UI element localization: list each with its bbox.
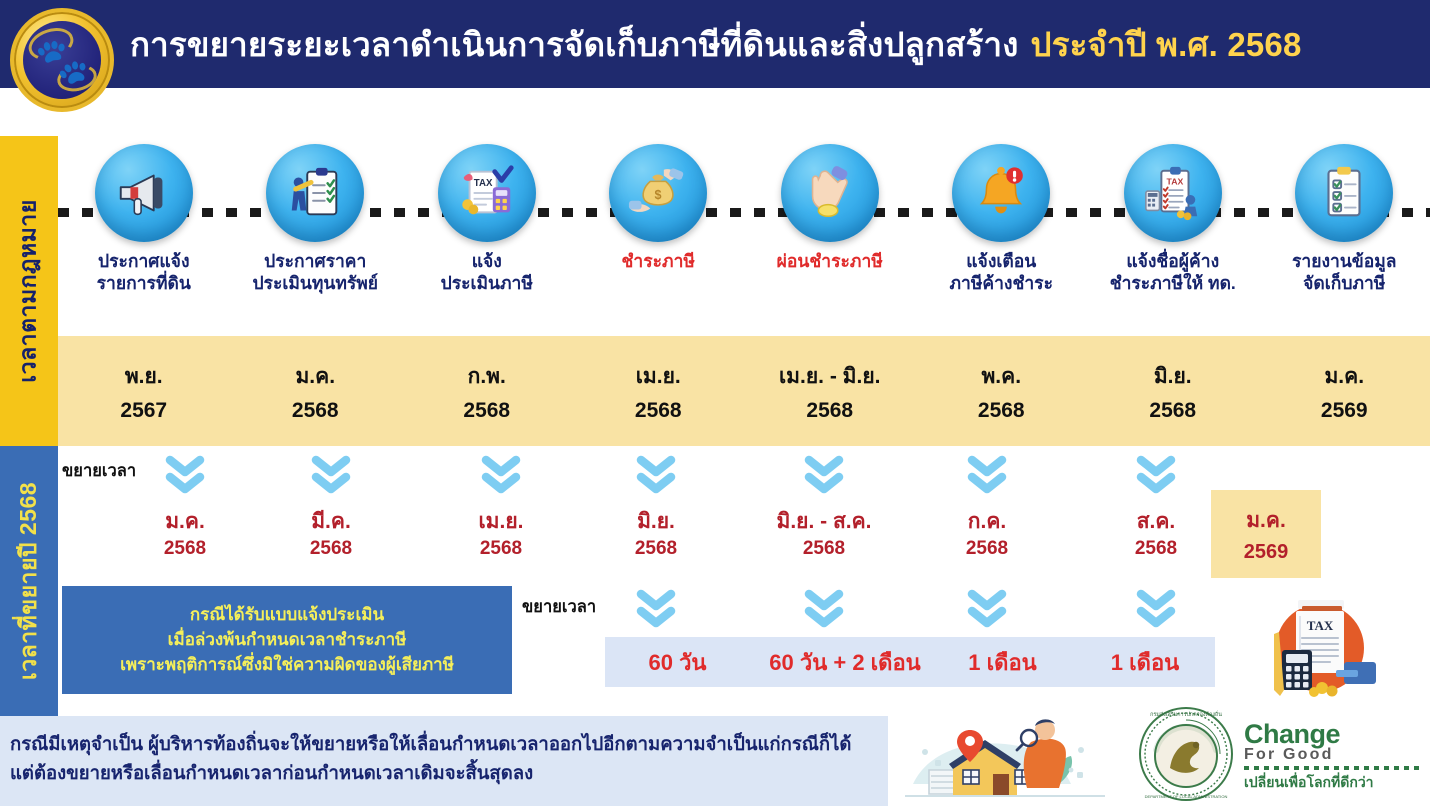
timeline-step-3-label: แจ้ง ประเมินภาษี [441,250,533,295]
alert-bell-icon [952,144,1050,242]
clipboard-person-icon [266,144,364,242]
assessment-note-line-3: เพราะพฤติการณ์ซึ่งมิใช่ความผิดของผู้เสีย… [120,654,454,676]
duration-item-4: 1 เดือน [1075,637,1215,687]
change-for-good-thai: เปลี่ยนเพื่อโลกที่ดีกว่า [1244,772,1420,794]
timeline-step-4[interactable]: $ ชำระภาษี [573,136,745,336]
megaphone-icon [95,144,193,242]
sidebar-extended-time: เวลาที่ขยายปี 2568 [0,446,58,716]
timeline-step-2-label: ประกาศราคา ประเมินทุนทรัพย์ [252,250,378,295]
legal-date-cell-4: เม.ย. 2568 [573,336,745,446]
double-chevron-down-icon-8 [634,586,678,632]
hand-coin-icon [781,144,879,242]
extended-date-month-5: มิ.ย. - ส.ค. [749,508,899,536]
double-chevron-down-icon-10 [965,586,1009,632]
svg-text:TAX: TAX [1307,618,1334,633]
sidebar-legal-label: เวลาตามกฎหมาย [11,199,47,382]
extended-date-cell-6: ก.ค. 2568 [912,508,1062,562]
double-chevron-down-icon-11 [1134,586,1178,632]
duration-item-1: 60 วัน [605,637,750,687]
legal-date-month-1: พ.ย. [125,360,163,393]
duration-item-2: 60 วัน + 2 เดือน [750,637,940,687]
legal-date-year-2: 2568 [292,399,339,423]
double-chevron-down-icon-5 [802,452,846,498]
change-for-good-divider [1244,766,1420,770]
timeline-step-6-label: แจ้งเตือน ภาษีค้างชำระ [950,250,1053,295]
page-title-year: ประจำปี พ.ศ. 2568 [1031,18,1302,71]
extended-highlight-month: ม.ค. [1246,504,1286,537]
timeline-step-6[interactable]: แจ้งเตือน ภาษีค้างชำระ [916,136,1088,336]
timeline-step-5[interactable]: ผ่อนชำระภาษี [744,136,916,336]
legal-dates-band: พ.ย. 2567 ม.ค. 2568 ก.พ. 2568 เม.ย. 2568… [58,336,1430,446]
thai-garuda-lion-seal-icon: 🐾 [10,8,114,112]
extended-date-highlight-cell: ม.ค. 2569 [1211,490,1321,578]
timeline-step-2[interactable]: ประกาศราคา ประเมินทุนทรัพย์ [230,136,402,336]
double-chevron-down-icon-4 [634,452,678,498]
footer-note: กรณีมีเหตุจำเป็น ผู้บริหารท้องถิ่นจะให้ข… [0,716,888,806]
legal-date-cell-7: มิ.ย. 2568 [1087,336,1259,446]
svg-text:TAX: TAX [1166,176,1183,186]
footer-note-line-1: กรณีมีเหตุจำเป็น ผู้บริหารท้องถิ่นจะให้ข… [10,730,876,759]
extended-date-year-6: 2568 [912,536,1062,562]
department-of-local-administration-seal-icon: กรมส่งเสริมการปกครองท้องถิ่น DEPARTMENT … [1138,706,1234,802]
legal-date-month-4: เม.ย. [636,360,681,393]
assessment-note-box: กรณีได้รับแบบแจ้งประเมิน เมื่อล่วงพ้นกำห… [62,586,512,694]
legal-date-year-8: 2569 [1321,399,1368,423]
svg-text:$: $ [655,188,662,202]
legal-date-year-3: 2568 [463,399,510,423]
page-title-main: การขยายระยะเวลาดำเนินการจัดเก็บภาษีที่ดิ… [130,18,1019,71]
legal-date-month-7: มิ.ย. [1154,360,1192,393]
checklist-clipboard-icon [1295,144,1393,242]
extend-label-top: ขยายเวลา [62,458,136,484]
legal-date-year-4: 2568 [635,399,682,423]
legal-date-cell-1: พ.ย. 2567 [58,336,230,446]
money-bag-hand-icon: $ [609,144,707,242]
assessment-note-line-1: กรณีได้รับแบบแจ้งประเมิน [190,604,384,626]
tax-clipboard-calculator-icon: TAX [1124,144,1222,242]
legal-date-year-1: 2567 [120,399,167,423]
assessment-note-line-2: เมื่อล่วงพ้นกำหนดเวลาชำระภาษี [168,629,407,651]
legal-date-year-6: 2568 [978,399,1025,423]
duration-band: 60 วัน 60 วัน + 2 เดือน 1 เดือน 1 เดือน [605,637,1215,687]
legal-date-month-3: ก.พ. [468,360,506,393]
sidebar-extended-label: เวลาที่ขยายปี 2568 [11,482,47,680]
header-bar: การขยายระยะเวลาดำเนินการจัดเก็บภาษีที่ดิ… [0,0,1430,88]
legal-date-cell-5: เม.ย. - มิ.ย. 2568 [744,336,916,446]
double-chevron-down-icon-7 [1134,452,1178,498]
extended-date-year-2: 2568 [256,536,406,562]
house-inspection-illustration-icon [905,712,1105,804]
tax-document-icon: TAX [438,144,536,242]
footer-note-line-2: แต่ต้องขยายหรือเลื่อนกำหนดเวลาก่อนกำหนดเ… [10,759,876,788]
legal-date-cell-3: ก.พ. 2568 [401,336,573,446]
legal-date-month-6: พ.ค. [981,360,1021,393]
legal-date-year-7: 2568 [1149,399,1196,423]
double-chevron-down-icon-3 [479,452,523,498]
change-for-good-main: Change [1244,722,1420,747]
extended-date-year-4: 2568 [581,536,731,562]
tax-form-calculator-illustration-icon: TAX [1258,592,1382,698]
extended-date-cell-4: มิ.ย. 2568 [581,508,731,562]
extend-label-bottom: ขยายเวลา [522,594,596,620]
sidebar-legal-time: เวลาตามกฎหมาย [0,136,58,446]
extended-date-year-5: 2568 [749,536,899,562]
timeline-step-3[interactable]: TAX แจ้ง ประเมินภาษี [401,136,573,336]
legal-date-year-5: 2568 [806,399,853,423]
extended-date-month-2: มี.ค. [256,508,406,536]
svg-text:กรมส่งเสริมการปกครองท้องถิ่น: กรมส่งเสริมการปกครองท้องถิ่น [1150,710,1222,718]
extended-date-cell-7: ส.ค. 2568 [1081,508,1231,562]
legal-date-month-5: เม.ย. - มิ.ย. [779,360,880,393]
page-title: การขยายระยะเวลาดำเนินการจัดเก็บภาษีที่ดิ… [130,0,1420,88]
extended-date-cell-2: มี.ค. 2568 [256,508,406,562]
extended-date-month-4: มิ.ย. [581,508,731,536]
legal-date-month-8: ม.ค. [1324,360,1364,393]
change-for-good-sub: For Good [1244,747,1420,763]
svg-text:TAX: TAX [474,178,493,189]
legal-date-cell-2: ม.ค. 2568 [230,336,402,446]
extended-date-year-3: 2568 [426,536,576,562]
duration-item-3: 1 เดือน [940,637,1065,687]
double-chevron-down-icon-6 [965,452,1009,498]
timeline-step-7[interactable]: TAX แจ้งชื่อผู้ค้าง ชำระภาษีให้ ทด. [1087,136,1259,336]
timeline-step-1[interactable]: ประกาศแจ้ง รายการที่ดิน [58,136,230,336]
timeline-step-4-label: ชำระภาษี [622,250,695,272]
timeline-step-8[interactable]: รายงานข้อมูล จัดเก็บภาษี [1259,136,1430,336]
double-chevron-down-icon-9 [802,586,846,632]
extended-date-month-6: ก.ค. [912,508,1062,536]
extended-date-year-1: 2568 [110,536,260,562]
extended-date-cell-1: ม.ค. 2568 [110,508,260,562]
change-for-good-logo: Change For Good เปลี่ยนเพื่อโลกที่ดีกว่า [1244,722,1420,792]
infographic-page: การขยายระยะเวลาดำเนินการจัดเก็บภาษีที่ดิ… [0,0,1430,806]
legal-date-month-2: ม.ค. [295,360,335,393]
timeline-step-5-label: ผ่อนชำระภาษี [777,250,883,272]
extended-date-cell-5: มิ.ย. - ส.ค. 2568 [749,508,899,562]
extended-date-month-1: ม.ค. [110,508,260,536]
double-chevron-down-icon-1 [163,452,207,498]
extended-date-month-7: ส.ค. [1081,508,1231,536]
svg-text:DEPARTMENT OF LOCAL ADMINISTRA: DEPARTMENT OF LOCAL ADMINISTRATION [1145,794,1228,799]
extended-highlight-year: 2569 [1244,541,1289,564]
legal-date-cell-8: ม.ค. 2569 [1259,336,1430,446]
timeline-step-1-label: ประกาศแจ้ง รายการที่ดิน [97,250,191,295]
timeline-step-7-label: แจ้งชื่อผู้ค้าง ชำระภาษีให้ ทด. [1110,250,1236,295]
extended-date-month-3: เม.ย. [426,508,576,536]
legal-date-cell-6: พ.ค. 2568 [916,336,1088,446]
extended-date-cell-3: เม.ย. 2568 [426,508,576,562]
timeline-step-8-label: รายงานข้อมูล จัดเก็บภาษี [1292,250,1397,295]
extended-date-year-7: 2568 [1081,536,1231,562]
timeline-row: ประกาศแจ้ง รายการที่ดิน [58,136,1430,336]
double-chevron-down-icon-2 [309,452,353,498]
